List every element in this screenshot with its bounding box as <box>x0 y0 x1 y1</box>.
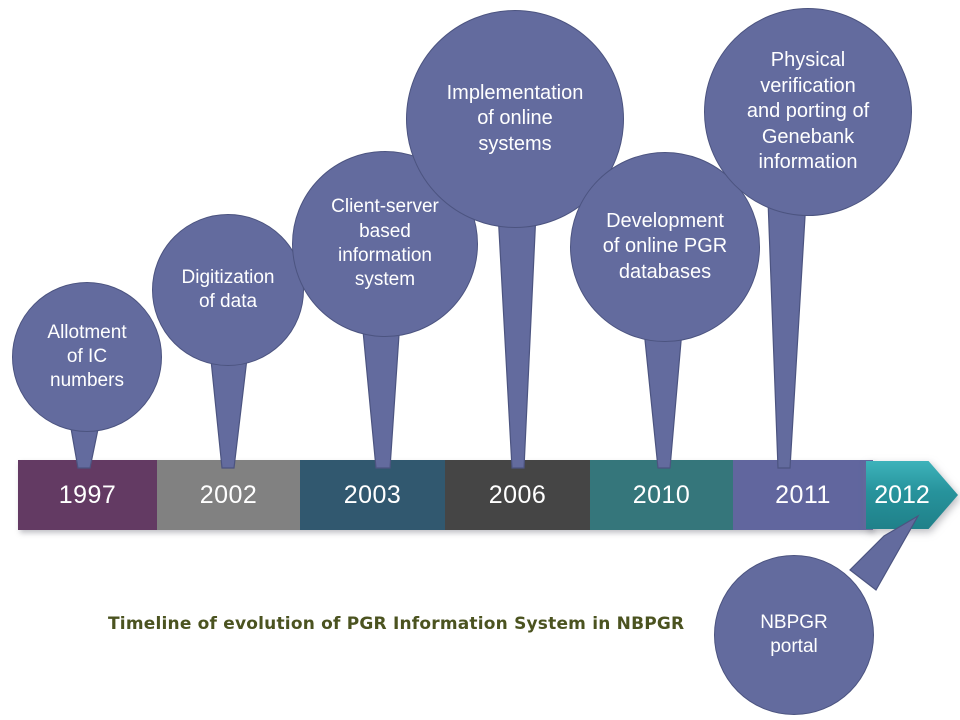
tail-2010 <box>644 330 682 468</box>
tail-2006 <box>498 212 536 468</box>
callout-bubble-2011[interactable]: Physical verification and porting of Gen… <box>704 8 912 216</box>
callout-text-2010: Development of online PGR databases <box>603 209 728 286</box>
callout-text-2003: Client-server based information system <box>331 195 439 292</box>
callout-text-2002: Digitization of data <box>182 266 275 315</box>
callout-bubble-2012[interactable]: NBPGR portal <box>714 555 874 715</box>
tail-2011 <box>768 200 806 468</box>
timeline-diagram: Allotment of IC numbers Digitization of … <box>0 0 960 720</box>
callout-text-2012: NBPGR portal <box>760 611 828 660</box>
callout-text-2006: Implementation of online systems <box>447 81 584 158</box>
callout-bubble-2002[interactable]: Digitization of data <box>152 214 304 366</box>
tail-2003 <box>362 320 400 468</box>
callout-text-2011: Physical verification and porting of Gen… <box>747 48 869 176</box>
tail-2002 <box>210 350 248 468</box>
callout-bubble-1997[interactable]: Allotment of IC numbers <box>12 282 162 432</box>
callout-text-1997: Allotment of IC numbers <box>47 321 126 394</box>
tail-2012 <box>850 516 918 590</box>
